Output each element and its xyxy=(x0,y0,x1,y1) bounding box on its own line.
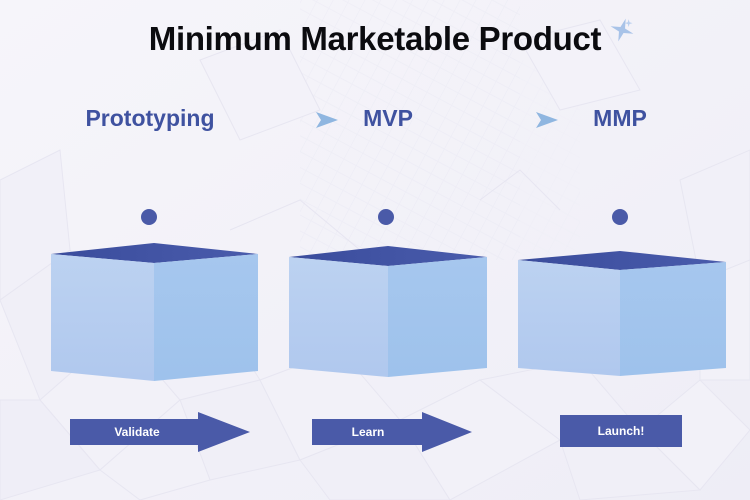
banner-launch[interactable]: Launch! xyxy=(560,412,682,450)
arrow-banner-shape xyxy=(312,412,472,452)
cube-3d-icon xyxy=(514,246,732,380)
sparkle-icon xyxy=(605,14,639,48)
pin-dot-icon xyxy=(140,138,158,228)
cube-3d-icon xyxy=(42,236,262,386)
stage-label-prototyping: Prototyping xyxy=(50,105,250,132)
infographic-canvas: Minimum Marketable Product Prototyping M… xyxy=(0,0,750,500)
rect-banner-shape xyxy=(560,412,682,450)
arrow-banner-shape xyxy=(70,412,250,452)
cube-3d-icon xyxy=(281,240,493,382)
banner-learn[interactable]: Learn xyxy=(312,412,472,452)
arrow-right-icon xyxy=(482,108,562,132)
banner-validate[interactable]: Validate xyxy=(70,412,250,452)
pin-dot-icon xyxy=(377,138,395,228)
arrow-right-icon xyxy=(262,108,342,132)
pin-dot-icon xyxy=(611,138,629,228)
